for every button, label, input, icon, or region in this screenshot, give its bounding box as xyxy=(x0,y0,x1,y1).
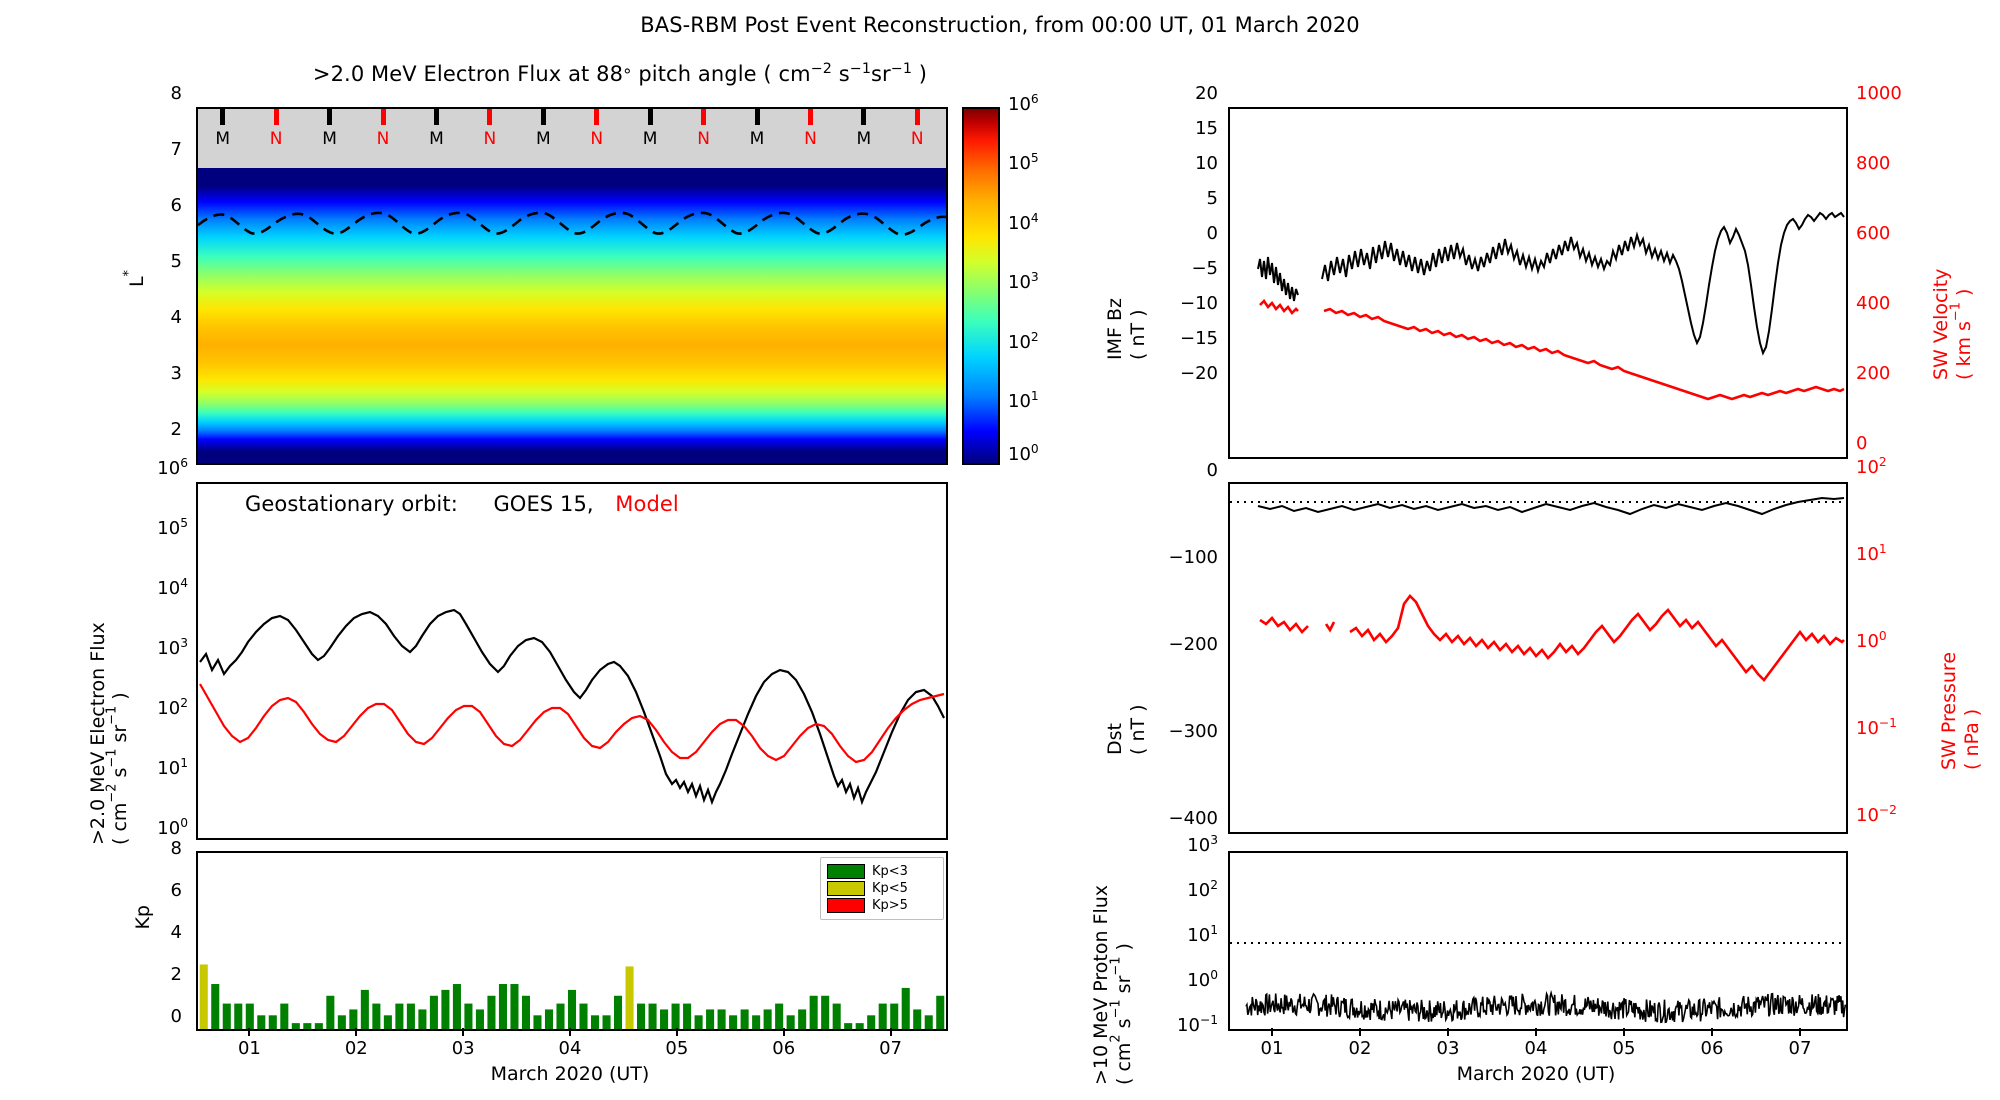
kp-bar xyxy=(867,1015,875,1029)
mlt-tick xyxy=(487,109,492,125)
dst-trace xyxy=(1258,498,1844,514)
kp-bar xyxy=(591,1015,599,1029)
kp-bar xyxy=(384,1015,392,1029)
proton-ylabel: >10 MeV Proton Flux( cm2 s−1 sr−1 ) xyxy=(1090,845,1136,1085)
mlt-tick xyxy=(274,109,279,125)
mlt-label: M xyxy=(636,129,664,149)
kp-bar xyxy=(798,1009,806,1029)
kp-bar xyxy=(441,990,449,1029)
kp-bar xyxy=(936,996,944,1029)
mlt-label: N xyxy=(796,129,824,149)
x-tick xyxy=(676,1028,678,1036)
mlt-label: N xyxy=(262,129,290,149)
mlt-tick xyxy=(541,109,546,125)
kp-bar xyxy=(453,984,461,1029)
x-tick-label: 05 xyxy=(1602,1038,1646,1059)
kp-legend-label-mid: Kp<5 xyxy=(872,881,908,896)
x-tick xyxy=(569,1028,571,1036)
x-tick-label: 01 xyxy=(1250,1038,1294,1059)
kp-legend-swatch-high xyxy=(827,898,865,913)
sw-pressure-trace xyxy=(1260,596,1844,680)
flux-map-ylabel: L* xyxy=(126,270,148,292)
x-tick xyxy=(1535,1028,1537,1036)
mlt-label: N xyxy=(690,129,718,149)
kp-bar xyxy=(856,1023,864,1029)
kp-bar xyxy=(372,1004,380,1029)
x-tick-label: 06 xyxy=(1690,1038,1734,1059)
geo-flux-ylabel: >2.0 MeV Electron Flux( cm−2 s−1 sr−1 ) xyxy=(88,485,132,845)
x-tick-label: 02 xyxy=(334,1038,378,1059)
x-tick xyxy=(1359,1028,1361,1036)
flux-map-title: >2.0 MeV Electron Flux at 88° pitch angl… xyxy=(60,62,1180,86)
imf-ylabel-right: SW Velocity( km s−1 ) xyxy=(1930,180,1976,380)
x-tick xyxy=(248,1028,250,1036)
kp-bar xyxy=(292,1023,300,1029)
sw-velocity-trace xyxy=(1260,301,1844,399)
x-tick-label: 02 xyxy=(1338,1038,1382,1059)
kp-bar xyxy=(752,1015,760,1029)
kp-bar xyxy=(695,1015,703,1029)
figure-suptitle: BAS-RBM Post Event Reconstruction, from … xyxy=(0,13,2000,37)
kp-xlabel: March 2020 (UT) xyxy=(196,1063,944,1085)
mlt-label: M xyxy=(209,129,237,149)
kp-bar xyxy=(556,1004,564,1029)
mlt-tick xyxy=(808,109,813,125)
kp-bar xyxy=(810,996,818,1029)
kp-bar xyxy=(338,1015,346,1029)
kp-xticks: 01020304050607 xyxy=(196,1036,944,1062)
x-tick xyxy=(1711,1028,1713,1036)
kp-bar xyxy=(579,1004,587,1029)
kp-bar xyxy=(649,1004,657,1029)
kp-bar xyxy=(764,1009,772,1029)
x-tick xyxy=(1447,1028,1449,1036)
mlt-label: M xyxy=(743,129,771,149)
mlt-label: N xyxy=(369,129,397,149)
kp-bar xyxy=(349,1009,357,1029)
kp-bar xyxy=(787,1015,795,1029)
kp-bar xyxy=(614,996,622,1029)
kp-bar xyxy=(672,1004,680,1029)
kp-bar xyxy=(326,996,334,1029)
kp-legend-swatch-mid xyxy=(827,881,865,896)
kp-bar xyxy=(718,1009,726,1029)
mlt-label: M xyxy=(529,129,557,149)
mlt-label: N xyxy=(476,129,504,149)
kp-bar xyxy=(223,1004,231,1029)
kp-bar xyxy=(833,1004,841,1029)
mlt-tick xyxy=(594,109,599,125)
x-tick-label: 04 xyxy=(548,1038,592,1059)
kp-legend-item: Kp>5 xyxy=(827,898,937,913)
geo-flux-legend-model: Model xyxy=(615,492,679,516)
geo-flux-plot xyxy=(198,484,946,838)
kp-bar xyxy=(510,984,518,1029)
proton-axes xyxy=(1228,851,1848,1031)
kp-legend-item: Kp<5 xyxy=(827,881,937,896)
kp-bar xyxy=(303,1023,311,1029)
mlt-label: N xyxy=(583,129,611,149)
mlt-tick xyxy=(434,109,439,125)
kp-bar xyxy=(626,966,634,1029)
kp-bar xyxy=(706,1009,714,1029)
kp-bar xyxy=(533,1015,541,1029)
kp-bar xyxy=(879,1004,887,1029)
kp-bar xyxy=(200,964,208,1029)
kp-bar xyxy=(315,1023,323,1029)
geo-flux-axes xyxy=(196,482,948,840)
x-tick-label: 03 xyxy=(1426,1038,1470,1059)
kp-bar xyxy=(418,1009,426,1029)
kp-bar xyxy=(729,1015,737,1029)
mlt-tick xyxy=(861,109,866,125)
kp-bar xyxy=(821,996,829,1029)
kp-bar xyxy=(499,984,507,1029)
kp-bar xyxy=(269,1015,277,1029)
kp-bar xyxy=(568,990,576,1029)
kp-legend-item: Kp<3 xyxy=(827,864,937,879)
geo-flux-legend: Geostationary orbit: GOES 15, Model xyxy=(245,492,679,516)
kp-bar xyxy=(925,1015,933,1029)
kp-bar xyxy=(522,996,530,1029)
goes15-trace xyxy=(200,610,944,802)
kp-bar xyxy=(775,1004,783,1029)
mlt-tick xyxy=(381,109,386,125)
kp-bar xyxy=(660,1009,668,1029)
kp-bar xyxy=(913,1009,921,1029)
mlt-tick xyxy=(220,109,225,125)
kp-bar xyxy=(741,1009,749,1029)
mlt-label: N xyxy=(903,129,931,149)
kp-bar xyxy=(603,1015,611,1029)
x-tick-label: 05 xyxy=(655,1038,699,1059)
proton-xlabel: March 2020 (UT) xyxy=(1228,1063,1844,1085)
kp-bar xyxy=(464,1004,472,1029)
kp-bar xyxy=(280,1004,288,1029)
mlt-tick xyxy=(915,109,920,125)
kp-bar xyxy=(234,1004,242,1029)
imf-bz-trace xyxy=(1258,213,1844,353)
mlt-marker-row: MNMNMNMNMNMNMN xyxy=(196,109,944,165)
proton-plot xyxy=(1230,853,1846,1029)
x-tick xyxy=(1623,1028,1625,1036)
x-tick xyxy=(1271,1028,1273,1036)
x-tick-label: 04 xyxy=(1514,1038,1558,1059)
kp-bar xyxy=(890,1004,898,1029)
dst-plot xyxy=(1230,484,1846,832)
x-tick-label: 07 xyxy=(1778,1038,1822,1059)
x-tick xyxy=(783,1028,785,1036)
x-tick-label: 01 xyxy=(227,1038,271,1059)
x-tick xyxy=(890,1028,892,1036)
proton-xticks: 01020304050607 xyxy=(1228,1036,1844,1062)
mlt-label: M xyxy=(422,129,450,149)
mlt-tick xyxy=(755,109,760,125)
mlt-tick xyxy=(648,109,653,125)
x-tick xyxy=(355,1028,357,1036)
kp-bar xyxy=(246,1004,254,1029)
x-tick xyxy=(1799,1028,1801,1036)
mlt-label: M xyxy=(316,129,344,149)
kp-bar xyxy=(407,1004,415,1029)
kp-bar xyxy=(902,988,910,1029)
x-tick-label: 03 xyxy=(441,1038,485,1059)
imf-plot xyxy=(1230,109,1846,457)
kp-bar xyxy=(683,1004,691,1029)
kp-bar xyxy=(430,996,438,1029)
kp-bar xyxy=(257,1015,265,1029)
kp-legend: Kp<3 Kp<5 Kp>5 xyxy=(820,857,944,920)
kp-bar xyxy=(487,996,495,1029)
dst-axes xyxy=(1228,482,1848,834)
kp-bar xyxy=(637,1004,645,1029)
x-tick-label: 07 xyxy=(869,1038,913,1059)
kp-legend-swatch-low xyxy=(827,864,865,879)
kp-bar xyxy=(395,1004,403,1029)
geo-flux-legend-obs: GOES 15, xyxy=(493,492,593,516)
geo-flux-legend-prefix: Geostationary orbit: xyxy=(245,492,458,516)
model-trace xyxy=(200,684,944,762)
kp-legend-label-high: Kp>5 xyxy=(872,898,908,913)
x-tick xyxy=(462,1028,464,1036)
x-tick-label: 06 xyxy=(762,1038,806,1059)
kp-bar xyxy=(476,1009,484,1029)
kp-bar xyxy=(545,1009,553,1029)
imf-axes xyxy=(1228,107,1848,459)
proton-trace xyxy=(1246,993,1845,1022)
kp-bar xyxy=(211,984,219,1029)
mlt-tick xyxy=(327,109,332,125)
dst-ylabel-right: SW Pressure( nPa ) xyxy=(1938,560,1984,770)
kp-bar xyxy=(361,990,369,1029)
mlt-tick xyxy=(701,109,706,125)
colorbar xyxy=(962,107,1000,465)
kp-legend-label-low: Kp<3 xyxy=(872,864,908,879)
mlt-label: M xyxy=(850,129,878,149)
kp-bar xyxy=(844,1023,852,1029)
